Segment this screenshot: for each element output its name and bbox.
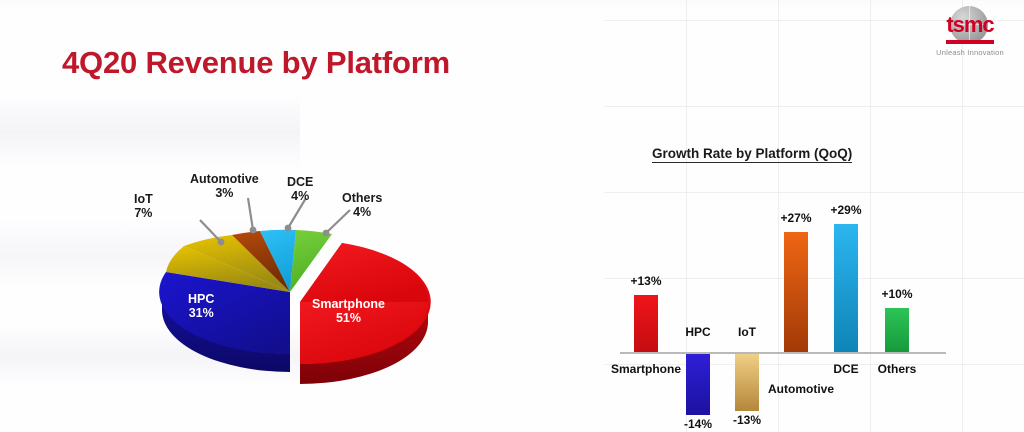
pie-label-dce: DCE 4% xyxy=(287,175,313,203)
bar-others xyxy=(885,308,909,352)
zero-axis-line xyxy=(620,352,946,354)
pie-label-others: Others 4% xyxy=(342,191,382,219)
logo-tagline: Unleash Innovation xyxy=(924,48,1016,57)
bar-label-automotive: Automotive xyxy=(750,382,852,396)
pie-label-iot-name: IoT xyxy=(134,192,153,206)
pie-label-hpc: HPC 31% xyxy=(188,292,214,321)
tsmc-logo: tsmc Unleash Innovation xyxy=(924,4,1016,60)
pie-label-iot-value: 7% xyxy=(134,206,152,220)
revenue-by-platform-pie-chart: IoT 7% Automotive 3% DCE 4% Others 4% HP… xyxy=(140,160,470,400)
bar-value-smartphone: +13% xyxy=(611,274,681,288)
bar-value-iot: -13% xyxy=(712,413,782,427)
pie-label-automotive-value: 3% xyxy=(215,186,233,200)
growth-rate-bar-chart: Growth Rate by Platform (QoQ) +13% Smart… xyxy=(600,140,950,432)
pie-label-automotive-name: Automotive xyxy=(190,172,259,186)
bar-chart-title: Growth Rate by Platform (QoQ) xyxy=(652,146,852,163)
pie-label-smartphone-name: Smartphone xyxy=(312,297,385,311)
pie-label-smartphone-value: 51% xyxy=(336,311,361,325)
bar-label-iot: IoT xyxy=(713,325,781,339)
bar-value-others: +10% xyxy=(862,287,932,301)
slide-top-band xyxy=(0,0,1024,14)
bar-label-others: Others xyxy=(863,362,931,376)
pie-label-automotive: Automotive 3% xyxy=(190,172,259,200)
pie-label-iot: IoT 7% xyxy=(134,192,153,220)
tsmc-wordmark: tsmc xyxy=(924,14,1016,36)
pie-label-smartphone: Smartphone 51% xyxy=(312,297,385,326)
pie-label-others-name: Others xyxy=(342,191,382,205)
page-title: 4Q20 Revenue by Platform xyxy=(62,45,450,81)
logo-underline xyxy=(946,40,994,44)
bar-hpc xyxy=(686,354,710,415)
pie-label-dce-name: DCE xyxy=(287,175,313,189)
bar-smartphone xyxy=(634,295,658,352)
bar-dce xyxy=(834,224,858,352)
slide-canvas: 4Q20 Revenue by Platform tsmc Unleash In… xyxy=(0,0,1024,432)
pie-label-others-value: 4% xyxy=(353,205,371,219)
bar-value-dce: +29% xyxy=(811,203,881,217)
pie-label-dce-value: 4% xyxy=(291,189,309,203)
pie-label-hpc-value: 31% xyxy=(189,306,214,320)
bar-automotive xyxy=(784,232,808,352)
pie-label-hpc-name: HPC xyxy=(188,292,214,306)
pie-slice-smartphone-upper xyxy=(300,243,428,302)
bar-label-smartphone: Smartphone xyxy=(599,362,693,376)
